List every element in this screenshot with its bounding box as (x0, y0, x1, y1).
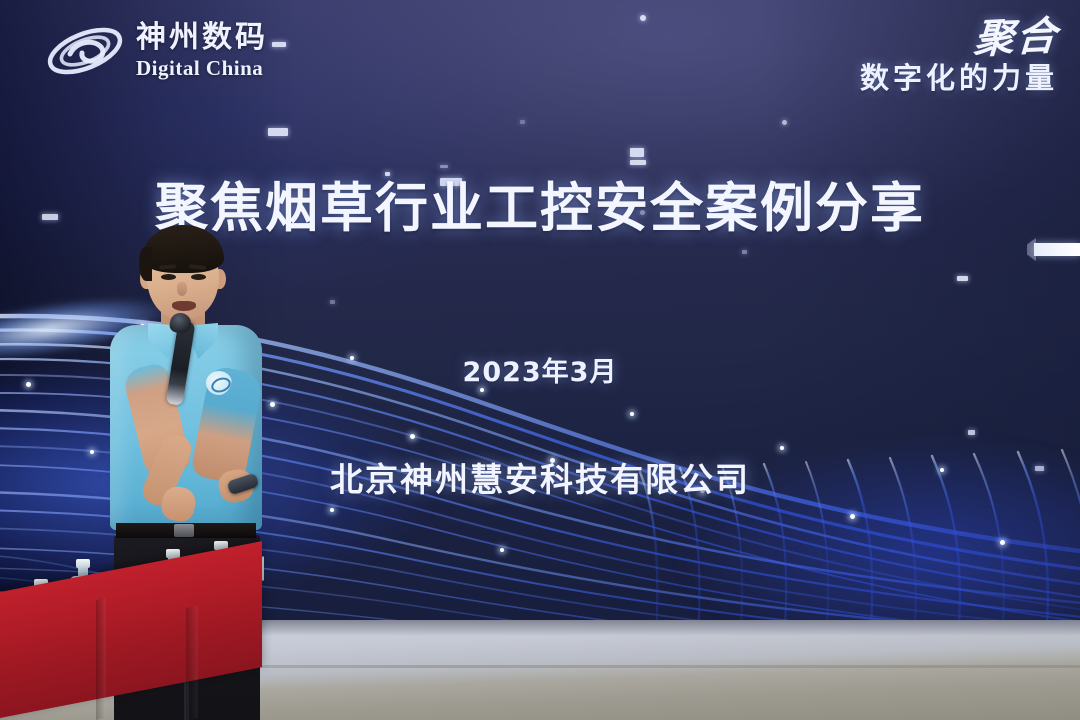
brand-logo-digital-china: 神州数码 Digital China (44, 20, 268, 82)
speaker-eye-left (161, 274, 176, 280)
particle-dash (520, 120, 525, 124)
particle-dot (330, 508, 334, 512)
speaker-hair (142, 225, 224, 273)
particle-dash (630, 148, 644, 157)
particle-dot (500, 548, 504, 552)
particle-dot (1000, 540, 1005, 545)
event-slogan-logo: 聚合 数字化的力量 (798, 18, 1058, 93)
brand-wordmark: 神州数码 Digital China (136, 23, 268, 79)
table-cloth-fold (186, 606, 198, 720)
bottle-cap (76, 559, 90, 568)
particle-dash (268, 128, 288, 136)
particle-dash (782, 120, 787, 125)
particle-dash (440, 165, 448, 168)
table-cloth-fold (96, 598, 106, 720)
particle-dot (850, 514, 855, 519)
brand-name-cn: 神州数码 (136, 23, 268, 53)
particle-dash (272, 42, 286, 47)
speaker-belt-buckle (174, 524, 194, 537)
speaker-nose (177, 282, 187, 296)
particle-dot (410, 434, 415, 439)
brand-name-en: Digital China (136, 58, 268, 79)
shirt-logo-icon (206, 371, 232, 395)
decorative-bar (1034, 243, 1080, 256)
slogan-calligraphy: 聚合 (973, 16, 1060, 60)
spiral-swoosh-icon (44, 20, 126, 82)
table-cloth (0, 541, 262, 720)
particle-dash (385, 172, 390, 176)
particle-dash (742, 250, 747, 254)
particle-dash (640, 15, 646, 21)
particle-dot (630, 412, 634, 416)
particle-dash (630, 160, 646, 165)
speaker-eye-right (191, 274, 206, 280)
speaker-mouth (172, 301, 196, 311)
slogan-subtitle: 数字化的力量 (798, 64, 1058, 93)
foreground-table (0, 550, 258, 720)
conference-stage-photo: 聚焦烟草行业工控安全案例分享 2023年3月 北京神州慧安科技有限公司 神州数码… (0, 0, 1080, 720)
particle-dot (780, 446, 784, 450)
